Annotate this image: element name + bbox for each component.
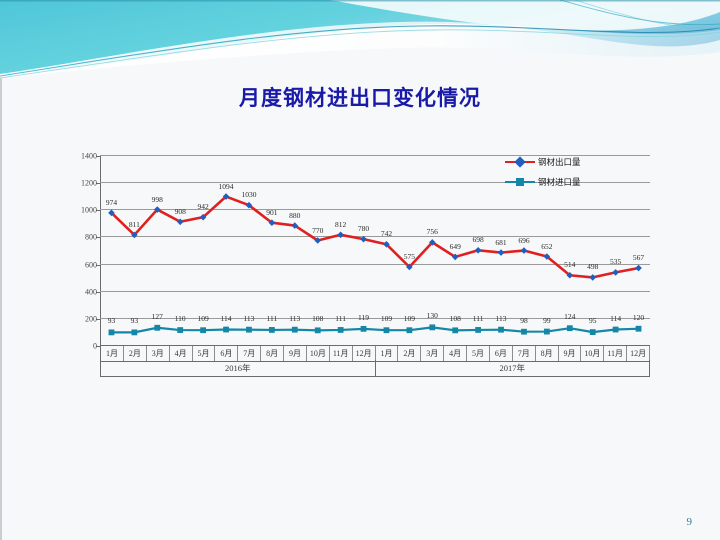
x-axis-label: 5月 [467, 346, 490, 361]
data-point-marker [590, 329, 596, 335]
data-point-marker [521, 329, 527, 335]
data-point-marker [246, 327, 252, 333]
data-label: 109 [404, 314, 415, 323]
data-point-marker [338, 327, 344, 333]
data-label: 113 [496, 314, 507, 323]
slide-left-border [0, 0, 2, 540]
data-label: 998 [152, 195, 163, 204]
data-point-marker [269, 327, 275, 333]
data-label: 93 [108, 316, 116, 325]
data-label: 114 [221, 314, 232, 323]
data-label: 111 [335, 314, 346, 323]
data-label: 113 [289, 314, 300, 323]
data-label: 114 [610, 314, 621, 323]
data-point-marker [177, 327, 183, 333]
data-label: 811 [129, 220, 140, 229]
data-label: 113 [243, 314, 254, 323]
data-label: 812 [335, 220, 346, 229]
data-label: 1030 [241, 190, 256, 199]
legend-key-export [505, 157, 535, 167]
x-axis-label: 5月 [193, 346, 216, 361]
data-label: 567 [633, 253, 644, 262]
x-axis-label: 7月 [513, 346, 536, 361]
data-label: 535 [610, 257, 621, 266]
data-point-marker [544, 329, 550, 335]
data-label: 908 [175, 207, 186, 216]
data-point-marker [498, 249, 505, 256]
series-line-export [111, 197, 638, 278]
x-axis-label: 11月 [604, 346, 627, 361]
data-point-marker [567, 325, 573, 331]
data-label: 780 [358, 224, 369, 233]
data-point-marker [635, 265, 642, 272]
data-point-marker [154, 325, 160, 331]
data-point-marker [223, 327, 229, 333]
y-tick-label: 1200 [81, 179, 97, 188]
data-label: 742 [381, 229, 392, 238]
data-label: 880 [289, 211, 300, 220]
data-label: 111 [267, 314, 278, 323]
data-label: 93 [131, 316, 139, 325]
data-point-marker [521, 247, 528, 254]
x-axis-label: 1月 [100, 346, 124, 361]
data-label: 119 [358, 313, 369, 322]
x-axis-label: 6月 [215, 346, 238, 361]
decorative-wave-banner [0, 0, 720, 78]
x-axis-label: 4月 [170, 346, 193, 361]
y-tick-label: 1400 [81, 152, 97, 161]
data-point-marker [612, 269, 619, 276]
legend-item-export[interactable]: 钢材出口量 [505, 152, 625, 172]
data-label: 652 [541, 242, 552, 251]
data-point-marker [475, 247, 482, 254]
x-axis-label: 3月 [421, 346, 444, 361]
x-axis-label: 6月 [490, 346, 513, 361]
x-axis-label: 2月 [124, 346, 147, 361]
data-point-marker [292, 327, 298, 333]
x-axis-label: 11月 [330, 346, 353, 361]
x-axis-label: 9月 [559, 346, 582, 361]
data-label: 111 [473, 314, 484, 323]
data-label: 124 [564, 312, 575, 321]
y-tick-label: 1000 [81, 206, 97, 215]
x-axis-label: 9月 [284, 346, 307, 361]
data-label: 127 [152, 312, 163, 321]
x-axis-label: 4月 [444, 346, 467, 361]
x-axis-label: 12月 [353, 346, 376, 361]
data-label: 1094 [219, 182, 234, 191]
data-point-marker [200, 327, 206, 333]
data-label: 770 [312, 226, 323, 235]
x-axis-label: 8月 [536, 346, 559, 361]
data-label: 696 [518, 236, 529, 245]
data-label: 649 [450, 242, 461, 251]
data-label: 942 [198, 202, 209, 211]
data-point-marker [452, 327, 458, 333]
series-line-import [111, 327, 638, 332]
data-point-marker [636, 326, 642, 332]
x-axis-label: 10月 [307, 346, 330, 361]
y-tick-label: 200 [85, 314, 97, 323]
data-label: 108 [312, 314, 323, 323]
data-label: 498 [587, 262, 598, 271]
data-label: 130 [427, 311, 438, 320]
legend-label-import: 钢材进口量 [538, 176, 581, 188]
data-point-marker [361, 326, 367, 332]
data-label: 110 [175, 314, 186, 323]
legend-key-import [505, 177, 535, 187]
data-label: 756 [427, 227, 438, 236]
page-title: 月度钢材进出口变化情况 [0, 82, 720, 112]
data-label: 99 [543, 316, 551, 325]
x-axis-label: 3月 [147, 346, 170, 361]
data-label: 681 [495, 238, 506, 247]
y-tick-label: 400 [85, 287, 97, 296]
legend-item-import[interactable]: 钢材进口量 [505, 172, 625, 192]
data-label: 120 [633, 313, 644, 322]
data-label: 974 [106, 198, 117, 207]
data-label: 698 [473, 235, 484, 244]
data-label: 95 [589, 316, 597, 325]
x-axis-year-row: 2016年2017年 [100, 360, 650, 377]
x-axis-label: 10月 [581, 346, 604, 361]
data-point-marker [429, 324, 435, 330]
data-label: 514 [564, 260, 575, 269]
data-point-marker [337, 232, 344, 239]
data-point-marker [315, 327, 321, 333]
chart-legend: 钢材出口量 钢材进口量 [505, 152, 625, 192]
data-point-marker [613, 327, 619, 333]
data-label: 109 [198, 314, 209, 323]
data-label: 108 [450, 314, 461, 323]
x-axis-label: 12月 [627, 346, 650, 361]
x-axis-label: 2月 [398, 346, 421, 361]
data-point-marker [109, 329, 115, 335]
page-number: 9 [687, 516, 693, 528]
x-axis: 1月2月3月4月5月6月7月8月9月10月11月12月1月2月3月4月5月6月7… [100, 345, 650, 379]
x-axis-label: 8月 [261, 346, 284, 361]
y-tick-label: 0 [93, 342, 97, 351]
data-point-marker [589, 274, 596, 281]
data-point-marker [360, 236, 367, 243]
data-point-marker [384, 327, 390, 333]
x-axis-label: 7月 [238, 346, 261, 361]
legend-label-export: 钢材出口量 [538, 156, 581, 168]
data-label: 98 [520, 316, 528, 325]
data-point-marker [131, 329, 137, 335]
x-axis-year-label: 2017年 [376, 360, 651, 377]
y-tick-label: 800 [85, 233, 97, 242]
data-point-marker [406, 327, 412, 333]
x-axis-year-label: 2016年 [100, 360, 376, 377]
data-label: 901 [266, 208, 277, 217]
data-label: 575 [404, 252, 415, 261]
data-label: 109 [381, 314, 392, 323]
data-point-marker [475, 327, 481, 333]
data-point-marker [498, 327, 504, 333]
x-axis-label: 1月 [376, 346, 399, 361]
y-tick-label: 600 [85, 260, 97, 269]
